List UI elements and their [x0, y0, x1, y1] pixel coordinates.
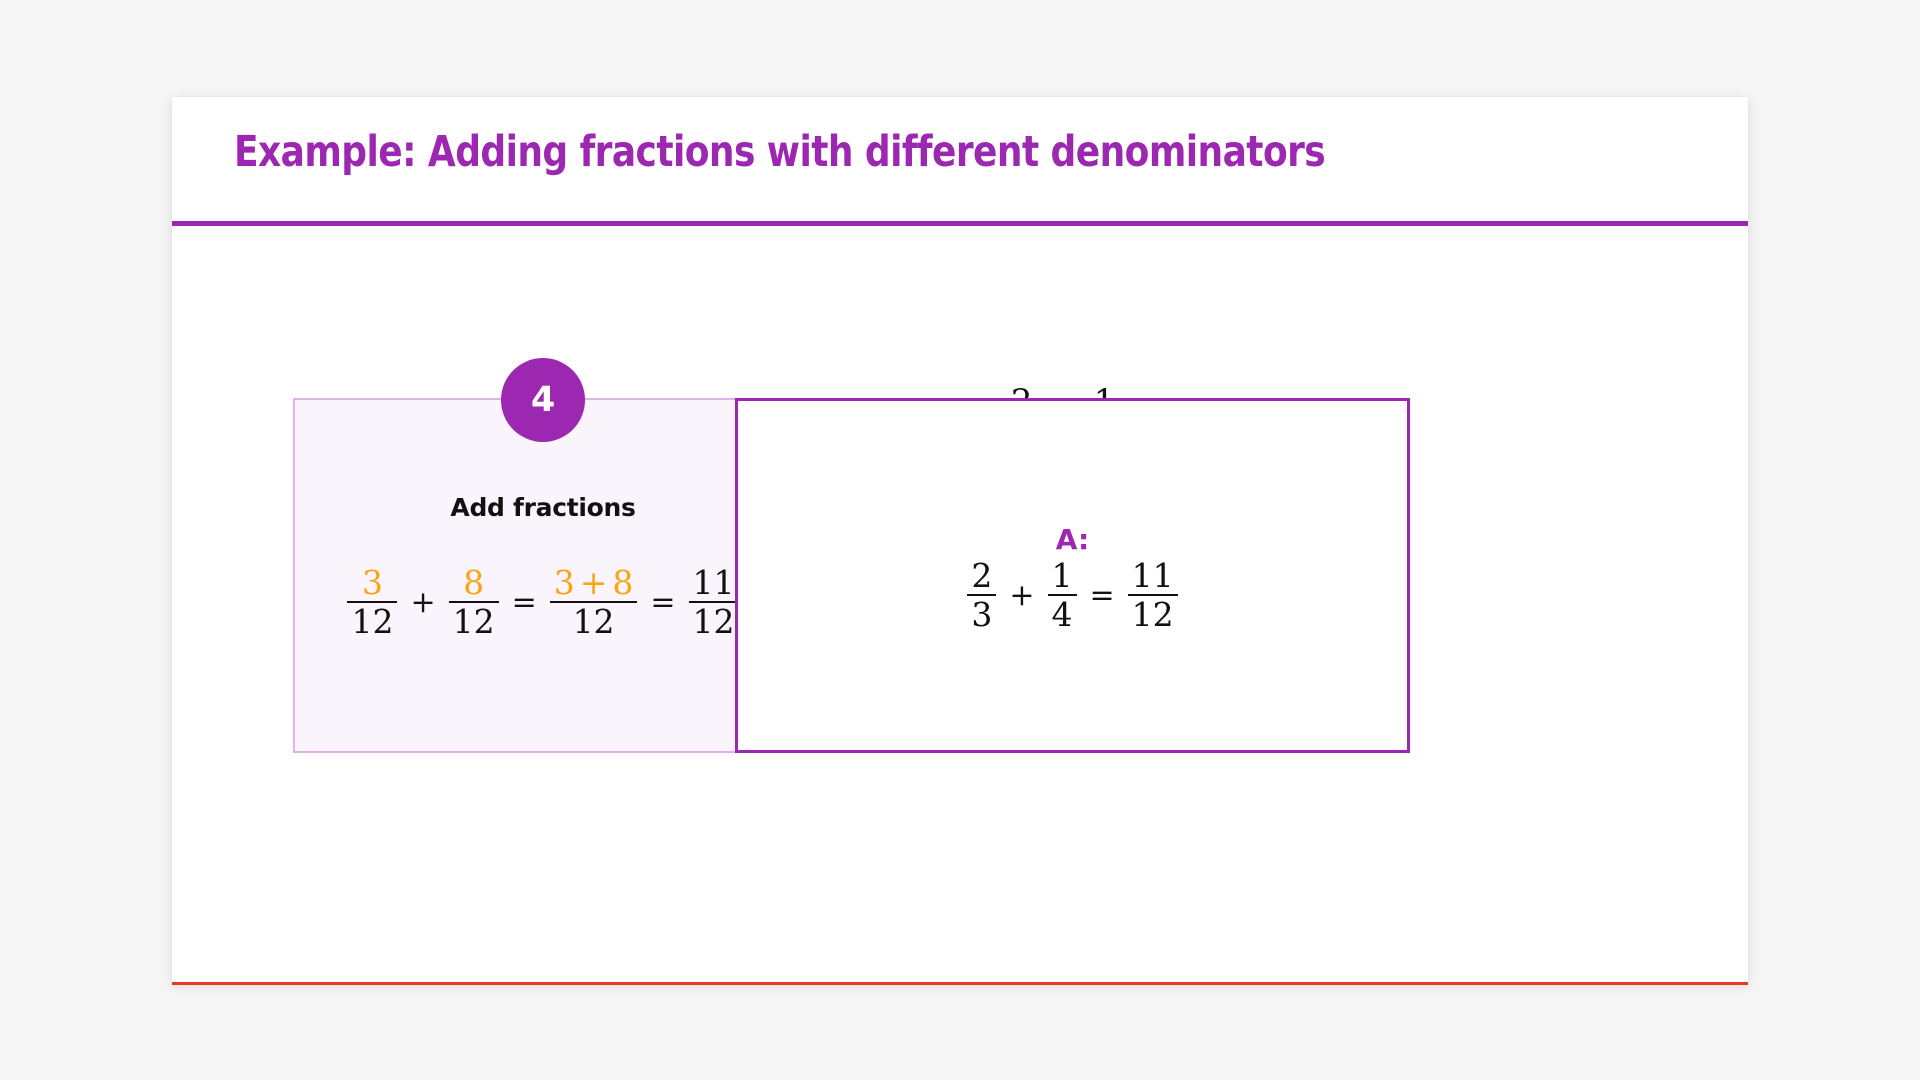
denominator: 12 [449, 603, 499, 638]
fraction-result-eleven-twelfths: 11 12 [1128, 559, 1178, 631]
numerator-sum: 3+8 [550, 566, 638, 601]
numerator-left: 3 [554, 563, 575, 602]
step-number-badge: 4 [501, 358, 585, 442]
denominator: 12 [1128, 596, 1178, 631]
numerator: 3 [358, 566, 387, 601]
step-card: 4 Add fractions 3 12 + 8 12 = [293, 398, 793, 753]
fraction-sum-over-twelve: 3+8 12 [550, 566, 638, 638]
plus-operator: + [397, 585, 448, 620]
step-heading: Add fractions [295, 493, 791, 522]
slide: Example: Adding fractions with different… [172, 97, 1748, 985]
numerator: 11 [1128, 559, 1178, 594]
slide-bottom-rule [172, 982, 1748, 985]
fraction-eleven-twelfths: 11 12 [689, 566, 739, 638]
numerator: 2 [967, 559, 996, 594]
equals-operator: = [499, 585, 550, 620]
numerator: 1 [1048, 559, 1077, 594]
fraction-three-twelfths: 3 12 [347, 566, 397, 638]
numerator-plus: + [575, 563, 613, 602]
fraction-eight-twelfths: 8 12 [449, 566, 499, 638]
denominator: 12 [569, 603, 619, 638]
equals-operator: = [1077, 578, 1128, 613]
answer-label: A: [738, 523, 1407, 556]
cards-row: 4 Add fractions 3 12 + 8 12 = [172, 97, 1748, 985]
denominator: 12 [347, 603, 397, 638]
fraction-two-thirds: 2 3 [967, 559, 996, 631]
fraction-one-quarter: 1 4 [1048, 559, 1077, 631]
equals-operator-2: = [637, 585, 688, 620]
answer-equation: 2 3 + 1 4 = 11 12 [738, 559, 1407, 631]
step-equation: 3 12 + 8 12 = 3+8 12 [295, 566, 791, 638]
plus-operator: + [996, 578, 1047, 613]
page-background: Example: Adding fractions with different… [0, 0, 1920, 1080]
numerator: 8 [459, 566, 488, 601]
numerator: 11 [689, 566, 739, 601]
answer-box: A: 2 3 + 1 4 = 11 [735, 398, 1410, 753]
numerator-right: 8 [612, 563, 633, 602]
denominator: 3 [967, 596, 996, 631]
denominator: 12 [689, 603, 739, 638]
denominator: 4 [1048, 596, 1077, 631]
